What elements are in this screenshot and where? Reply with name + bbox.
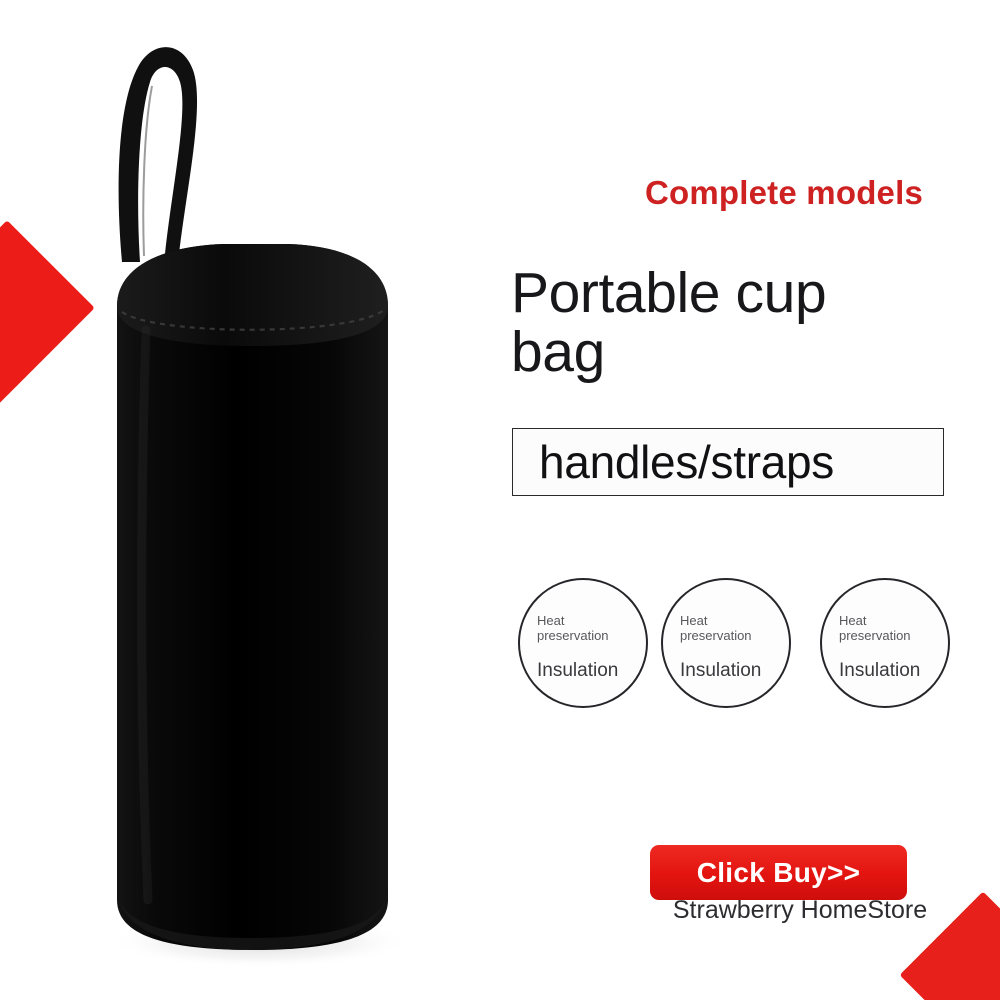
product-image [60,20,460,980]
insulation-badge: Heat preservation Insulation [518,578,648,708]
wrist-strap-shine [143,86,152,256]
eyebrow-headline: Complete models [574,174,994,212]
badge-heat-label: Heat preservation [680,613,780,644]
insulation-badge: Heat preservation Insulation [820,578,950,708]
insulation-badge: Heat preservation Insulation [661,578,791,708]
call-to-action-block: Click Buy>> Strawberry HomeStore [620,845,980,945]
click-buy-button[interactable]: Click Buy>> [650,845,907,900]
badge-insulation-label: Insulation [839,660,945,682]
advertisement-canvas: Complete models Portable cup bag handles… [0,0,1000,1000]
badge-heat-label: Heat preservation [537,613,637,644]
badge-heat-label: Heat preservation [839,613,939,644]
sleeve-body [117,244,388,950]
copy-column: Complete models Portable cup bag handles… [500,0,1000,1000]
badge-insulation-label: Insulation [537,660,643,682]
page-title: Portable cup bag [511,264,911,381]
feature-callout-label: handles/straps [539,439,834,485]
wrist-strap-handle [119,47,197,264]
feature-callout-box: handles/straps [512,428,944,496]
store-name-label: Strawberry HomeStore [620,896,980,925]
badge-insulation-label: Insulation [680,660,786,682]
insulation-badge-row: Heat preservation Insulation Heat preser… [512,578,972,712]
